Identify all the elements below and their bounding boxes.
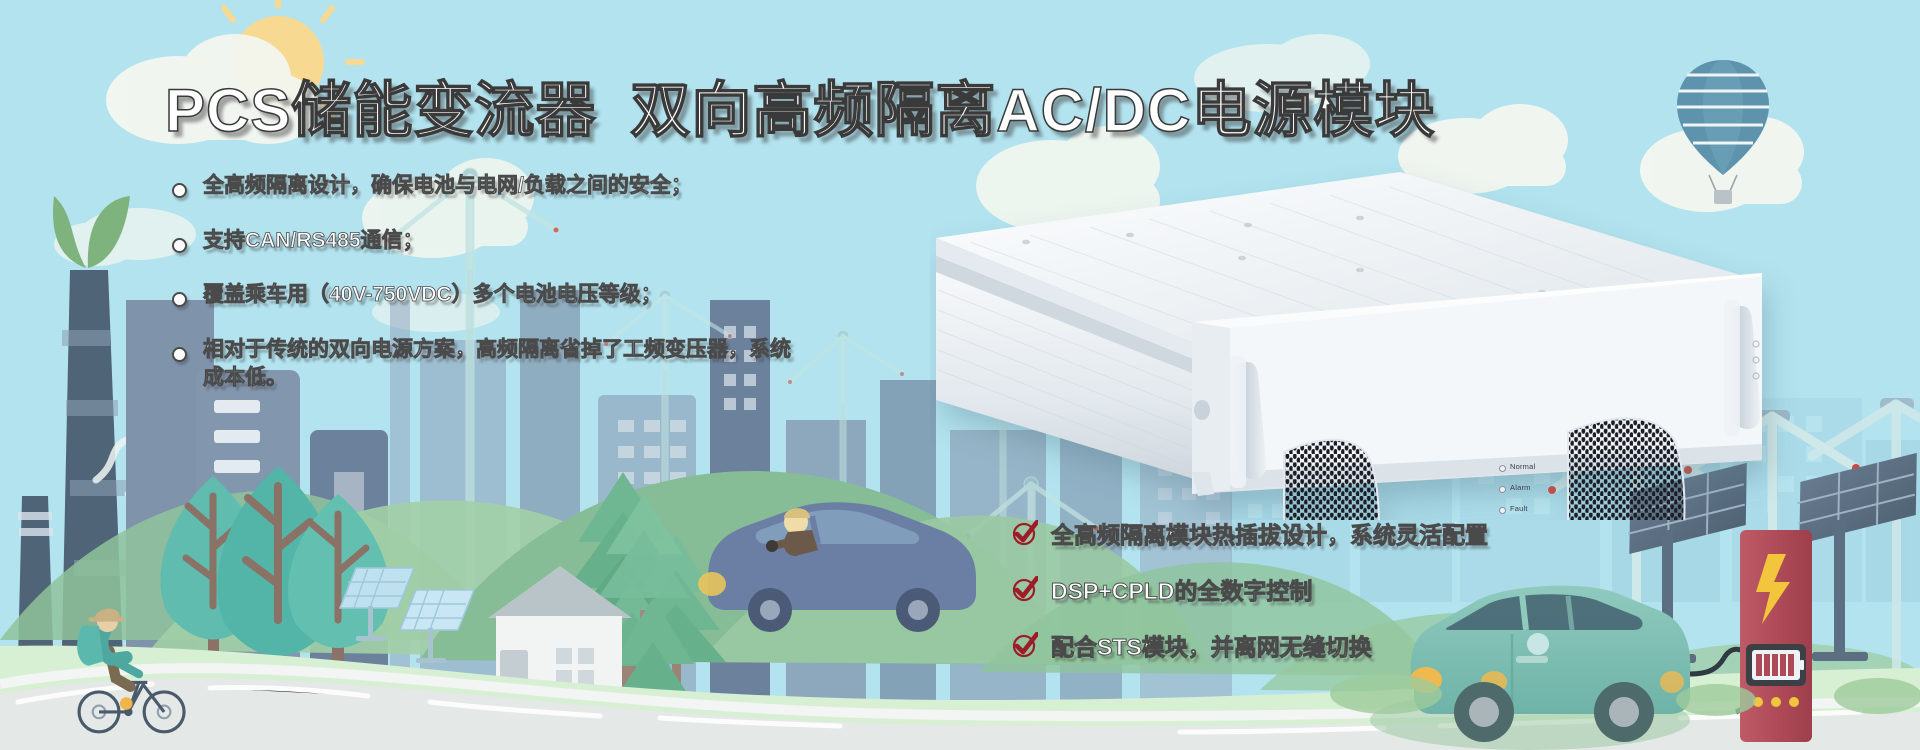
feature-item: 覆盖乘车用（40V-750VDC）多个电池电压等级；: [172, 281, 892, 309]
title-part-1: PCS储能变流器: [165, 77, 596, 144]
highlight-text: DSP+CPLD的全数字控制: [1051, 572, 1312, 606]
ev-charging-station-icon: [1740, 530, 1812, 742]
bullet-dot-icon: [172, 183, 187, 198]
highlight-list: 全高频隔离模块热插拔设计，系统灵活配置 DSP+CPLD的全数字控制 配合STS…: [1012, 516, 1652, 684]
feature-text: 支持CAN/RS485通信；: [203, 227, 424, 255]
bullet-dot-icon: [172, 292, 187, 307]
bullet-dot-icon: [172, 347, 187, 362]
bullet-dot-icon: [172, 238, 187, 253]
highlight-text: 配合STS模块，并离网无缝切换: [1051, 628, 1372, 662]
highlight-item: 全高频隔离模块热插拔设计，系统灵活配置: [1012, 516, 1652, 550]
led-dot-normal: [1499, 465, 1506, 472]
title-part-2: 双向高频隔离AC/DC电源模块: [630, 77, 1435, 144]
led-dot-fault: [1499, 507, 1506, 514]
highlight-text: 全高频隔离模块热插拔设计，系统灵活配置: [1051, 516, 1488, 550]
feature-text: 相对于传统的双向电源方案，高频隔离省掉了工频变压器，系统成本低。: [203, 336, 802, 391]
page-title: PCS储能变流器双向高频隔离AC/DC电源模块: [165, 62, 1435, 149]
highlight-item: 配合STS模块，并离网无缝切换: [1012, 628, 1652, 662]
feature-item: 全高频隔离设计，确保电池与电网/负载之间的安全；: [172, 172, 892, 200]
check-circle-icon: [1012, 520, 1038, 546]
led-dot-alarm: [1499, 486, 1506, 493]
check-circle-icon: [1012, 576, 1038, 602]
feature-list: 全高频隔离设计，确保电池与电网/负载之间的安全； 支持CAN/RS485通信； …: [172, 172, 892, 419]
banner-root: Normal Alarm Fault PCS储能变流器双向高频隔离AC/DC电源…: [0, 0, 1920, 750]
feature-item: 支持CAN/RS485通信；: [172, 227, 892, 255]
led-label-alarm: Alarm: [1510, 483, 1531, 492]
highlight-item: DSP+CPLD的全数字控制: [1012, 572, 1652, 606]
led-label-normal: Normal: [1510, 462, 1535, 471]
pcs-device-image: Normal Alarm Fault: [930, 160, 1920, 520]
feature-item: 相对于传统的双向电源方案，高频隔离省掉了工频变压器，系统成本低。: [172, 336, 802, 391]
led-label-fault: Fault: [1510, 504, 1528, 513]
check-circle-icon: [1012, 632, 1038, 658]
feature-text: 覆盖乘车用（40V-750VDC）多个电池电压等级；: [203, 281, 662, 309]
feature-text: 全高频隔离设计，确保电池与电网/负载之间的安全；: [203, 172, 692, 200]
